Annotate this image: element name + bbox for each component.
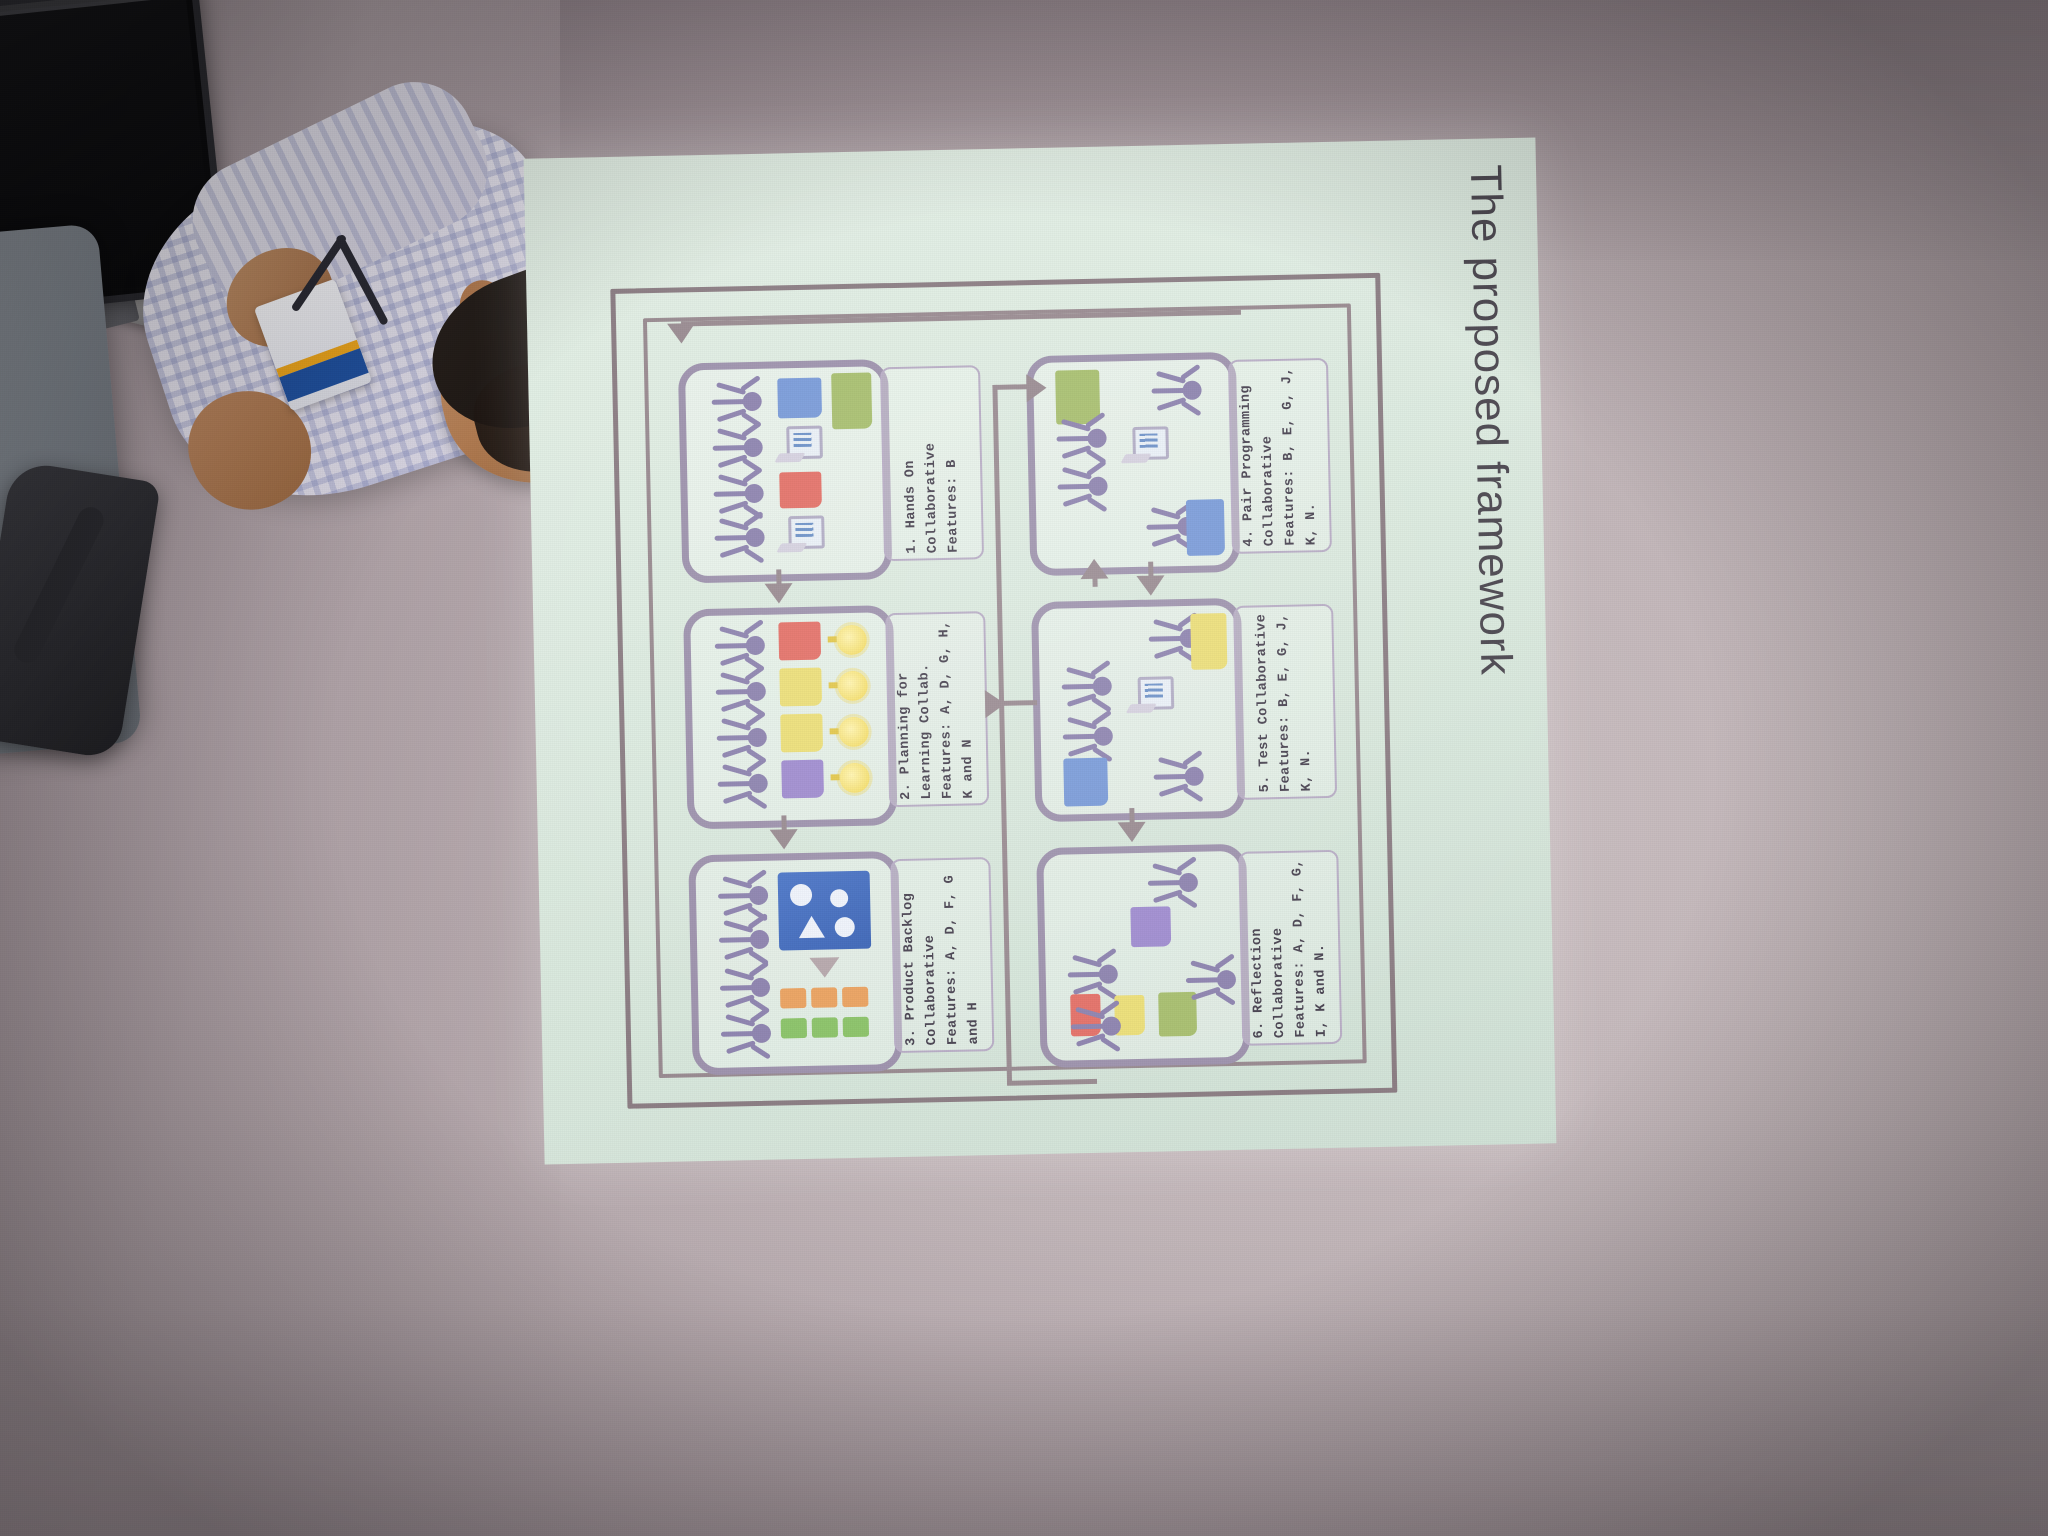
lightbulb-icon bbox=[839, 763, 870, 794]
stick-figure bbox=[1145, 760, 1204, 795]
note-blue bbox=[777, 378, 822, 419]
arrowhead-1-to-2 bbox=[765, 583, 793, 604]
stick-figure bbox=[1063, 1009, 1122, 1044]
wall-shadow-bottom bbox=[0, 1116, 2048, 1536]
card-green bbox=[781, 1018, 807, 1039]
stick-figure bbox=[1054, 719, 1113, 754]
column-phase-4-6: 4. Pair Programming Collaborative Featur… bbox=[1026, 350, 1340, 1028]
stick-figure bbox=[713, 1017, 772, 1052]
slide-surface: The proposed framework bbox=[524, 138, 1557, 1165]
note-red bbox=[778, 622, 821, 661]
card-orange bbox=[780, 988, 806, 1009]
laptop-icon bbox=[778, 515, 825, 552]
projected-slide: The proposed framework bbox=[524, 138, 1557, 1165]
box-1-caption: 1. Hands On Collaborative Features: B bbox=[880, 365, 984, 561]
box-2-icons bbox=[683, 605, 898, 829]
stick-figure bbox=[703, 385, 762, 420]
arrowhead-4-to-5 bbox=[1136, 575, 1164, 596]
page-title: The proposed framework bbox=[1460, 164, 1521, 676]
column-phase-1-3: 1. Hands On Collaborative Features: B bbox=[678, 357, 992, 1035]
stick-figure bbox=[1140, 866, 1199, 901]
arrowhead-5-to-4 bbox=[1080, 559, 1108, 580]
process-box-4[interactable]: 4. Pair Programming Collaborative Featur… bbox=[1026, 350, 1330, 562]
box-3-caption: 3. Product Backlog Collaborative Feature… bbox=[890, 857, 994, 1053]
down-arrow-icon bbox=[809, 957, 839, 978]
arrowhead-feedback-top bbox=[667, 323, 695, 344]
stick-figure bbox=[712, 971, 771, 1006]
box-6-icons bbox=[1036, 844, 1251, 1068]
arrowhead-5-to-6 bbox=[1118, 822, 1146, 843]
process-box-3[interactable]: 3. Product Backlog Collaborative Feature… bbox=[688, 849, 992, 1061]
box-5-icons bbox=[1031, 598, 1246, 822]
stick-figure bbox=[705, 477, 764, 512]
connector-2-to-5 bbox=[1001, 700, 1037, 706]
stick-figure bbox=[1178, 963, 1237, 998]
slide-canvas: The proposed framework bbox=[522, 138, 1549, 1171]
product-backlog-board bbox=[778, 871, 872, 951]
box-4-icons bbox=[1026, 352, 1241, 576]
box-5-caption: 5. Test Collaborative Features: B, E, G,… bbox=[1233, 604, 1337, 800]
stick-figure bbox=[1059, 957, 1118, 992]
note-green bbox=[1055, 370, 1100, 425]
box-1-icons bbox=[678, 359, 893, 583]
stick-figure bbox=[1049, 470, 1108, 505]
stick-figure bbox=[1048, 422, 1107, 457]
stick-figure bbox=[709, 767, 768, 802]
note-yellow bbox=[1190, 613, 1227, 670]
box-2-caption: 2. Planning for Learning Collab. Feature… bbox=[885, 611, 989, 807]
note-blue bbox=[1186, 499, 1225, 556]
laptop-icon bbox=[1128, 676, 1175, 713]
laptop-icon bbox=[1122, 426, 1169, 463]
stick-figure bbox=[1053, 670, 1112, 705]
stick-figure bbox=[707, 675, 766, 710]
card-orange bbox=[811, 987, 837, 1008]
note-blue bbox=[1063, 758, 1108, 807]
note-purple bbox=[781, 760, 824, 799]
laptop-icon bbox=[776, 426, 823, 463]
note-yellow bbox=[779, 668, 822, 707]
stick-figure bbox=[708, 721, 767, 756]
arrowhead-loop-6-to-4 bbox=[1026, 374, 1047, 402]
card-green bbox=[812, 1017, 838, 1038]
stick-figure bbox=[706, 629, 765, 664]
process-box-2[interactable]: 2. Planning for Learning Collab. Feature… bbox=[683, 603, 987, 815]
process-box-6[interactable]: 6. Reflection Collaborative Features: A,… bbox=[1036, 842, 1340, 1054]
card-orange bbox=[842, 987, 868, 1008]
stick-figure bbox=[710, 879, 769, 914]
stick-figure bbox=[1143, 374, 1202, 409]
lightbulb-icon bbox=[837, 671, 868, 702]
note-red bbox=[779, 472, 822, 509]
process-box-5[interactable]: 5. Test Collaborative Features: B, E, G,… bbox=[1031, 596, 1335, 808]
box-3-icons bbox=[688, 851, 903, 1075]
screenshot-root: The proposed framework bbox=[0, 0, 2048, 1536]
note-green bbox=[831, 372, 872, 429]
box-4-caption: 4. Pair Programming Collaborative Featur… bbox=[1228, 358, 1332, 554]
process-box-1[interactable]: 1. Hands On Collaborative Features: B bbox=[678, 357, 982, 569]
stick-figure bbox=[704, 431, 763, 466]
stick-figure bbox=[706, 521, 765, 556]
stick-figure bbox=[711, 923, 770, 958]
note-purple bbox=[1130, 906, 1171, 947]
card-green bbox=[843, 1017, 869, 1038]
box-6-caption: 6. Reflection Collaborative Features: A,… bbox=[1238, 850, 1342, 1046]
lightbulb-icon bbox=[836, 625, 867, 656]
arrowhead-2-to-3 bbox=[770, 829, 798, 850]
note-yellow bbox=[780, 714, 823, 753]
lightbulb-icon bbox=[838, 717, 869, 748]
